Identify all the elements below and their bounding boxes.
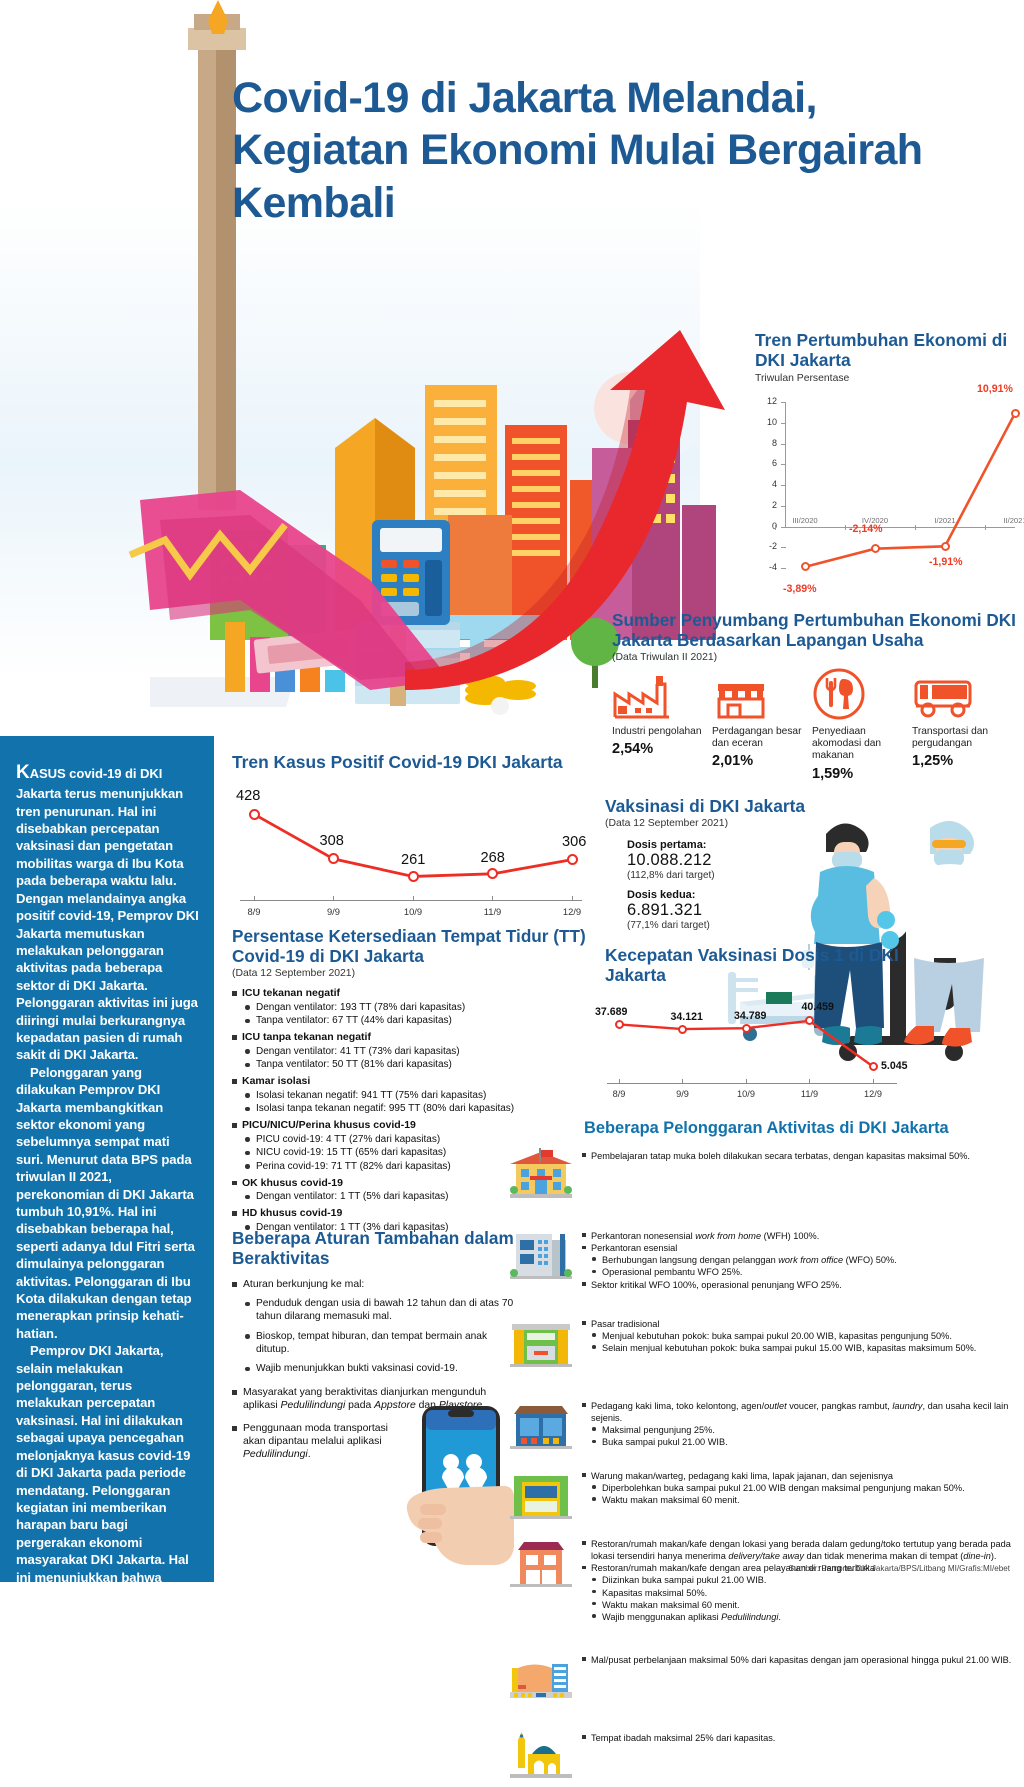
school-building-icon bbox=[508, 1148, 582, 1205]
rules-b2-app: Pedulilindungi bbox=[281, 1400, 346, 1411]
cases-x-tickmark bbox=[254, 896, 255, 901]
speed-x-axis bbox=[607, 1083, 897, 1084]
rules-bullet-3: Penggunaan moda transportasi akan dipant… bbox=[232, 1422, 407, 1461]
speed-chart-plot: 37.68934.12134.78940.4595.045 8/99/910/9… bbox=[605, 991, 905, 1101]
bed-group-item: Tanpa ventilator: 67 TT (44% dari kapasi… bbox=[232, 1015, 592, 1026]
speed-data-label: 5.045 bbox=[881, 1060, 908, 1072]
bed-group-item: Dengan ventilator: 193 TT (78% dari kapa… bbox=[232, 1002, 592, 1013]
traditional-market-icon bbox=[508, 1316, 582, 1373]
relaxation-line: Wajib menggunakan aplikasi Pedulilindung… bbox=[582, 1611, 1024, 1623]
economy-data-label: -1,91% bbox=[929, 556, 963, 568]
speed-data-label: 34.121 bbox=[671, 1011, 703, 1023]
relaxation-row-6: Restoran/rumah makan/kafe dengan lokasi … bbox=[508, 1536, 1024, 1623]
relaxation-title: Beberapa Pelonggaran Aktivitas di DKI Ja… bbox=[584, 1119, 949, 1138]
bed-group-item: Tanpa ventilator: 50 TT (81% dari kapasi… bbox=[232, 1059, 592, 1070]
economy-x-label: II/2021 bbox=[993, 516, 1024, 525]
speed-x-tickmark bbox=[682, 1079, 683, 1084]
speed-x-tickmark bbox=[809, 1079, 810, 1084]
relaxation-line: Operasional pembantu WFO 25%. bbox=[582, 1266, 1024, 1278]
relaxation-line: Diperbolehkan buka sampai pukul 21.00 WI… bbox=[582, 1482, 1024, 1494]
relaxation-row-4: Pedagang kaki lima, toko kelontong, agen… bbox=[508, 1398, 1024, 1455]
relaxation-text: Mal/pusat perbelanjaan maksimal 50% dari… bbox=[582, 1652, 1024, 1709]
sector-item-2: Perdagangan besar dan eceran2,01% bbox=[712, 668, 812, 782]
cases-x-tickmark bbox=[333, 896, 334, 901]
relaxation-section: Beberapa Pelonggaran Aktivitas di DKI Ja… bbox=[508, 1112, 1024, 1562]
relaxation-line: Sektor kritikal WFO 100%, operasional pe… bbox=[582, 1279, 1024, 1291]
economy-x-tick bbox=[845, 525, 846, 530]
speed-x-label: 11/9 bbox=[790, 1089, 830, 1099]
economy-data-point bbox=[1011, 409, 1020, 418]
cases-data-point bbox=[567, 854, 578, 865]
sector-item-3: Penyediaan akomodasi dan makanan1,59% bbox=[812, 668, 912, 782]
relaxation-line: Pedagang kaki lima, toko kelontong, agen… bbox=[582, 1400, 1024, 1424]
economy-x-tick bbox=[985, 525, 986, 530]
relaxation-line: Waktu makan maksimal 60 menit. bbox=[582, 1494, 1024, 1506]
page-title: Covid-19 di Jakarta Melandai, Kegiatan E… bbox=[232, 72, 932, 229]
economy-y-tick: 8 bbox=[757, 438, 777, 448]
speed-line bbox=[605, 991, 905, 1101]
economy-y-tick: 2 bbox=[757, 500, 777, 510]
sector-value: 1,25% bbox=[912, 753, 1012, 769]
cases-x-label: 12/9 bbox=[552, 906, 592, 917]
relaxation-line: Pembelajaran tatap muka boleh dilakukan … bbox=[582, 1150, 1024, 1162]
source-credit: Sumber: Pemprov DKI Jakarta/BPS/Litbang … bbox=[789, 1564, 1010, 1573]
article-paragraph-1: KASUS covid-19 di DKI Jakarta terus menu… bbox=[16, 760, 200, 1064]
article-paragraph-3: Pemprov DKI Jakarta, selain melakukan pe… bbox=[16, 1342, 200, 1638]
economy-chart-title: Tren Pertumbuhan Ekonomi di DKI Jakarta bbox=[755, 330, 1017, 371]
economy-y-tick: -4 bbox=[757, 562, 777, 572]
rules-sub-item: Wajib menunjukkan bukti vaksinasi covid-… bbox=[232, 1363, 522, 1376]
speed-x-label: 10/9 bbox=[726, 1089, 766, 1099]
infographic-root: Covid-19 di Jakarta Melandai, Kegiatan E… bbox=[0, 0, 1024, 1582]
speed-data-point bbox=[615, 1020, 624, 1029]
speed-x-tickmark bbox=[746, 1079, 747, 1084]
sector-name: Penyediaan akomodasi dan makanan bbox=[812, 726, 912, 763]
relaxation-line: Berhubungan langsung dengan pelanggan wo… bbox=[582, 1254, 1024, 1266]
office-building-icon bbox=[508, 1228, 582, 1291]
economy-y-tick: -2 bbox=[757, 541, 777, 551]
cases-x-label: 10/9 bbox=[393, 906, 433, 917]
economy-y-tickmark bbox=[781, 568, 786, 569]
cases-x-axis bbox=[240, 900, 582, 901]
speed-data-point bbox=[869, 1062, 878, 1071]
cases-x-label: 9/9 bbox=[314, 906, 354, 917]
speed-data-label: 34.789 bbox=[734, 1010, 766, 1022]
sector-name: Transportasi dan pergudangan bbox=[912, 726, 1012, 750]
cases-chart-title: Tren Kasus Positif Covid-19 DKI Jakarta bbox=[232, 752, 592, 772]
mall-icon bbox=[508, 1652, 582, 1709]
cases-x-tickmark bbox=[492, 896, 493, 901]
mosque-icon bbox=[508, 1730, 582, 1787]
speed-x-label: 8/9 bbox=[599, 1089, 639, 1099]
relaxation-row-8: Tempat ibadah maksimal 25% dari kapasita… bbox=[508, 1730, 1024, 1787]
relaxation-line: Perkantoran nonesensial work from home (… bbox=[582, 1230, 1024, 1242]
relaxation-text: Pedagang kaki lima, toko kelontong, agen… bbox=[582, 1398, 1024, 1455]
relaxation-line: Kapasitas maksimal 50%. bbox=[582, 1587, 1024, 1599]
cases-chart-plot: 428308261268306 8/99/910/911/912/9 bbox=[232, 778, 592, 918]
economy-data-label: -3,89% bbox=[783, 583, 817, 595]
warteg-icon bbox=[508, 1468, 582, 1525]
rules-b3-app: Pedulilindungi bbox=[243, 1449, 308, 1460]
beds-title: Persentase Ketersediaan Tempat Tidur (TT… bbox=[232, 926, 592, 966]
cases-data-label: 428 bbox=[236, 788, 260, 804]
relaxation-line: Warung makan/warteg, pedagang kaki lima,… bbox=[582, 1470, 1024, 1482]
economy-y-tick: 4 bbox=[757, 479, 777, 489]
cases-x-label: 11/9 bbox=[473, 906, 513, 917]
economy-trend-chart: Tren Pertumbuhan Ekonomi di DKI Jakarta … bbox=[755, 330, 1017, 595]
speed-data-label: 37.689 bbox=[595, 1006, 627, 1018]
cases-x-tickmark bbox=[413, 896, 414, 901]
cases-data-point bbox=[408, 871, 419, 882]
economy-data-point bbox=[801, 562, 810, 571]
article-paragraph-2: Pelonggaran yang dilakukan Pemprov DKI J… bbox=[16, 1064, 200, 1343]
red-growth-arrow-icon bbox=[395, 330, 725, 690]
relaxation-line: Maksimal pengunjung 25%. bbox=[582, 1424, 1024, 1436]
speed-x-tickmark bbox=[873, 1079, 874, 1084]
relaxation-line: Buka sampai pukul 21.00 WIB. bbox=[582, 1436, 1024, 1448]
drop-cap: K bbox=[16, 762, 30, 783]
relaxation-text: Pasar tradisionalMenjual kebutuhan pokok… bbox=[582, 1316, 1024, 1373]
positive-cases-chart: Tren Kasus Positif Covid-19 DKI Jakarta … bbox=[232, 752, 592, 917]
rules-bullet-1: Aturan berkunjung ke mal: bbox=[232, 1278, 522, 1291]
beds-subtitle: (Data 12 September 2021) bbox=[232, 968, 592, 979]
sector-value: 2,01% bbox=[712, 753, 812, 769]
economy-x-label: I/2021 bbox=[923, 516, 967, 525]
speed-x-label: 9/9 bbox=[663, 1089, 703, 1099]
relaxation-text: Tempat ibadah maksimal 25% dari kapasita… bbox=[582, 1730, 1024, 1787]
bed-group-head: Kamar isolasi bbox=[232, 1075, 592, 1087]
bed-group-head: ICU tanpa tekanan negatif bbox=[232, 1031, 592, 1043]
rules-title: Beberapa Aturan Tambahan dalam Beraktivi… bbox=[232, 1228, 522, 1268]
economy-data-point bbox=[941, 542, 950, 551]
economy-x-tick bbox=[775, 525, 776, 530]
speed-chart-title: Kecepatan Vaksinasi Dosis 1 di DKI Jakar… bbox=[605, 945, 905, 986]
shop-icon bbox=[712, 668, 812, 720]
economy-x-tick bbox=[915, 525, 916, 530]
bed-group-head: ICU tekanan negatif bbox=[232, 987, 592, 999]
cases-data-label: 261 bbox=[401, 852, 425, 868]
cases-data-label: 268 bbox=[481, 850, 505, 866]
economy-y-tickmark bbox=[781, 547, 786, 548]
speed-data-point bbox=[678, 1025, 687, 1034]
speed-x-label: 12/9 bbox=[853, 1089, 893, 1099]
relaxation-line: Menjual kebutuhan pokok: buka sampai puk… bbox=[582, 1330, 1024, 1342]
relaxation-line: Mal/pusat perbelanjaan maksimal 50% dari… bbox=[582, 1654, 1024, 1666]
cases-data-point bbox=[249, 809, 260, 820]
relaxation-row-7: Mal/pusat perbelanjaan maksimal 50% dari… bbox=[508, 1652, 1024, 1709]
sector-value: 2,54% bbox=[612, 741, 712, 757]
relaxation-line: Perkantoran esensial bbox=[582, 1242, 1024, 1254]
food-icon bbox=[812, 668, 912, 720]
relaxation-text: Restoran/rumah makan/kafe dengan lokasi … bbox=[582, 1536, 1024, 1623]
economy-data-label: -2,14% bbox=[849, 523, 883, 535]
sector-value: 1,59% bbox=[812, 766, 912, 782]
economy-y-tick: 10 bbox=[757, 417, 777, 427]
cases-data-label: 308 bbox=[320, 833, 344, 849]
rules-b3-end: . bbox=[308, 1449, 311, 1460]
article-p1-text: ASUS covid-19 di DKI Jakarta terus menun… bbox=[16, 766, 199, 1062]
economy-data-point bbox=[871, 544, 880, 553]
speed-x-tickmark bbox=[619, 1079, 620, 1084]
cases-x-label: 8/9 bbox=[234, 906, 274, 917]
sector-name: Perdagangan besar dan eceran bbox=[712, 726, 812, 750]
sector-item-4: Transportasi dan pergudangan1,25% bbox=[912, 668, 1012, 782]
economy-y-axis bbox=[785, 402, 786, 527]
relaxation-row-2: Perkantoran nonesensial work from home (… bbox=[508, 1228, 1024, 1291]
rules-b3-pre: Penggunaan moda transportasi akan dipant… bbox=[243, 1423, 388, 1447]
relaxation-row-5: Warung makan/warteg, pedagang kaki lima,… bbox=[508, 1468, 1024, 1525]
bed-group-item: Dengan ventilator: 41 TT (73% dari kapas… bbox=[232, 1046, 592, 1057]
economy-chart-plot: -4-2024681012 III/2020IV/2020I/2021II/20… bbox=[755, 390, 1017, 590]
small-shop-icon bbox=[508, 1398, 582, 1455]
economy-y-tick: 6 bbox=[757, 458, 777, 468]
relaxation-line: Selain menjual kebutuhan pokok: buka sam… bbox=[582, 1342, 1024, 1354]
economy-data-label: 10,91% bbox=[977, 383, 1013, 395]
economy-zero-line bbox=[785, 527, 1015, 528]
relaxation-line: Pasar tradisional bbox=[582, 1318, 1024, 1330]
rules-b2-mid: pada bbox=[345, 1400, 374, 1411]
relaxation-line: Tempat ibadah maksimal 25% dari kapasita… bbox=[582, 1732, 1024, 1744]
relaxation-text: Perkantoran nonesensial work from home (… bbox=[582, 1228, 1024, 1291]
relaxation-line: Waktu makan maksimal 60 menit. bbox=[582, 1599, 1024, 1611]
economy-chart-subtitle: Triwulan Persentase bbox=[755, 373, 1017, 384]
rules-sub-list: Penduduk dengan usia di bawah 12 tahun d… bbox=[232, 1298, 522, 1376]
bus-icon bbox=[912, 668, 1012, 720]
vaccination-speed-chart: Kecepatan Vaksinasi Dosis 1 di DKI Jakar… bbox=[605, 945, 905, 1100]
article-sidebar: KASUS covid-19 di DKI Jakarta terus menu… bbox=[0, 736, 214, 1582]
cases-x-tickmark bbox=[572, 896, 573, 901]
relaxation-text: Pembelajaran tatap muka boleh dilakukan … bbox=[582, 1148, 1024, 1205]
economy-y-tick: 12 bbox=[757, 396, 777, 406]
relaxation-row-1: Pembelajaran tatap muka boleh dilakukan … bbox=[508, 1148, 1024, 1205]
cases-data-label: 306 bbox=[562, 834, 586, 850]
relaxation-row-3: Pasar tradisionalMenjual kebutuhan pokok… bbox=[508, 1316, 1024, 1373]
economy-x-label: III/2020 bbox=[783, 516, 827, 525]
relaxation-line: Restoran/rumah makan/kafe dengan lokasi … bbox=[582, 1538, 1024, 1562]
bed-group-item: Isolasi tekanan negatif: 941 TT (75% dar… bbox=[232, 1090, 592, 1101]
sector-name: Industri pengolahan bbox=[612, 726, 712, 738]
economy-y-tick: 0 bbox=[757, 521, 777, 531]
relaxation-line: Diizinkan buka sampai pukul 21.00 WIB. bbox=[582, 1574, 1024, 1586]
speed-data-label: 40.459 bbox=[802, 1001, 834, 1013]
rules-sub-item: Penduduk dengan usia di bawah 12 tahun d… bbox=[232, 1298, 522, 1324]
rules-sub-item: Bioskop, tempat hiburan, dan tempat berm… bbox=[232, 1331, 522, 1357]
restaurant-icon bbox=[508, 1536, 582, 1623]
speed-data-point bbox=[742, 1024, 751, 1033]
relaxation-text: Warung makan/warteg, pedagang kaki lima,… bbox=[582, 1468, 1024, 1525]
